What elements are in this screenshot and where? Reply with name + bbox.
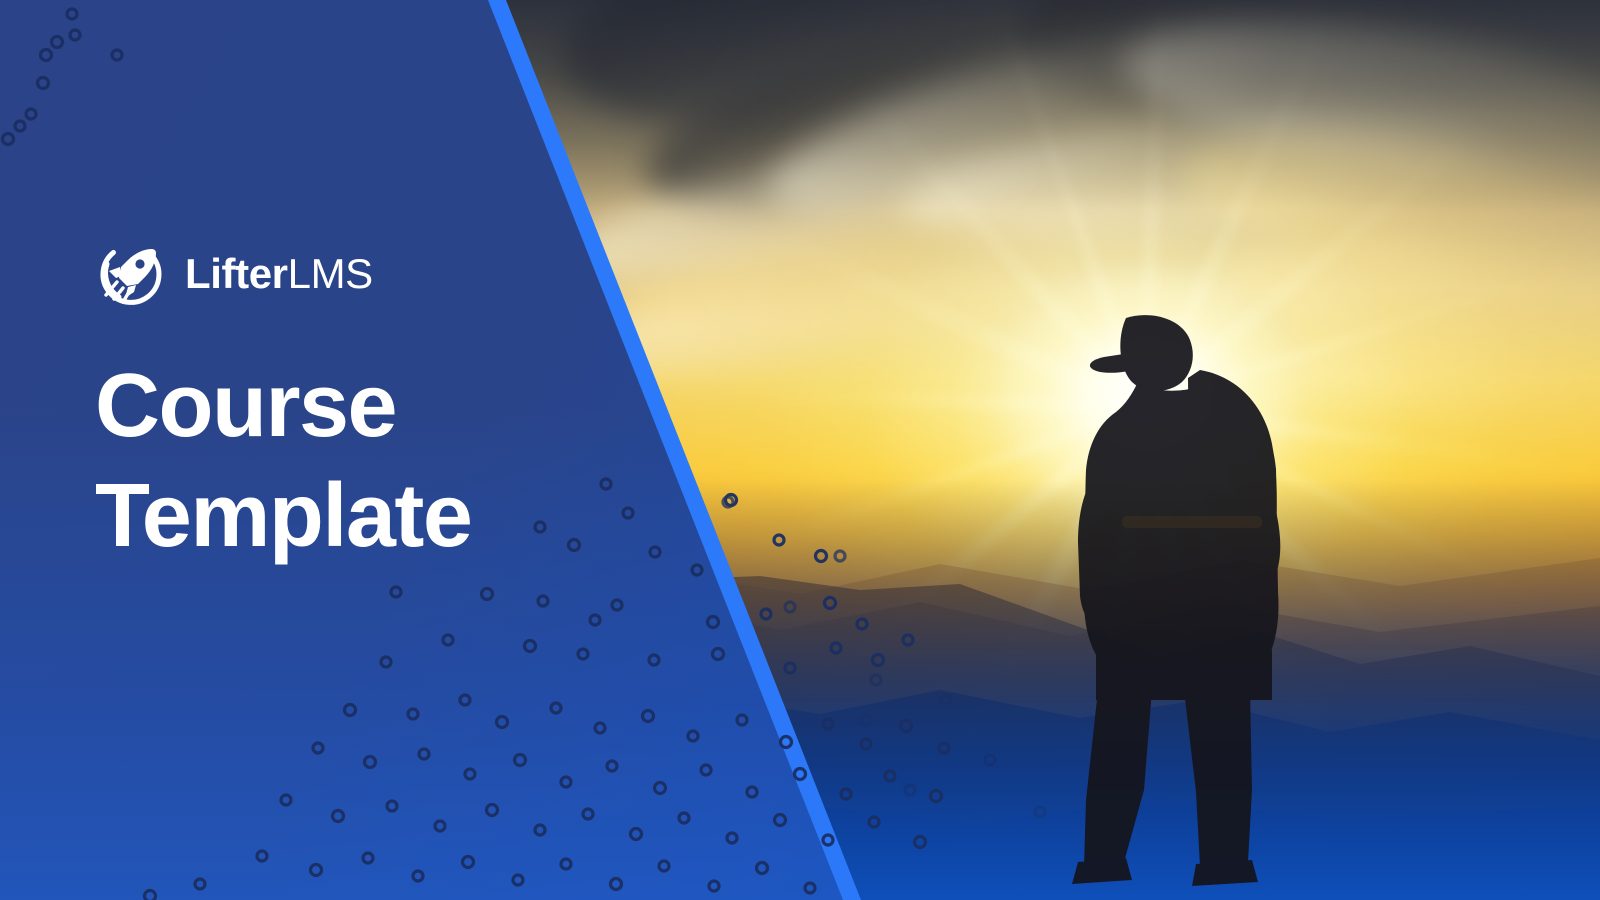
lifterlms-logo[interactable]: LifterLMS xyxy=(95,238,373,310)
wordmark-lms: LMS xyxy=(288,250,373,297)
headline-line-2: Template xyxy=(95,462,565,572)
headline-line-1: Course xyxy=(95,352,565,462)
wordmark-lifter: Lifter xyxy=(185,250,288,297)
page-title: Course Template xyxy=(95,352,565,572)
lifterlms-wordmark: LifterLMS xyxy=(185,253,373,295)
rocket-in-circle-icon xyxy=(95,238,167,310)
course-hero-banner: LifterLMS Course Template xyxy=(0,0,1600,900)
panel-content: LifterLMS Course Template xyxy=(95,0,555,900)
